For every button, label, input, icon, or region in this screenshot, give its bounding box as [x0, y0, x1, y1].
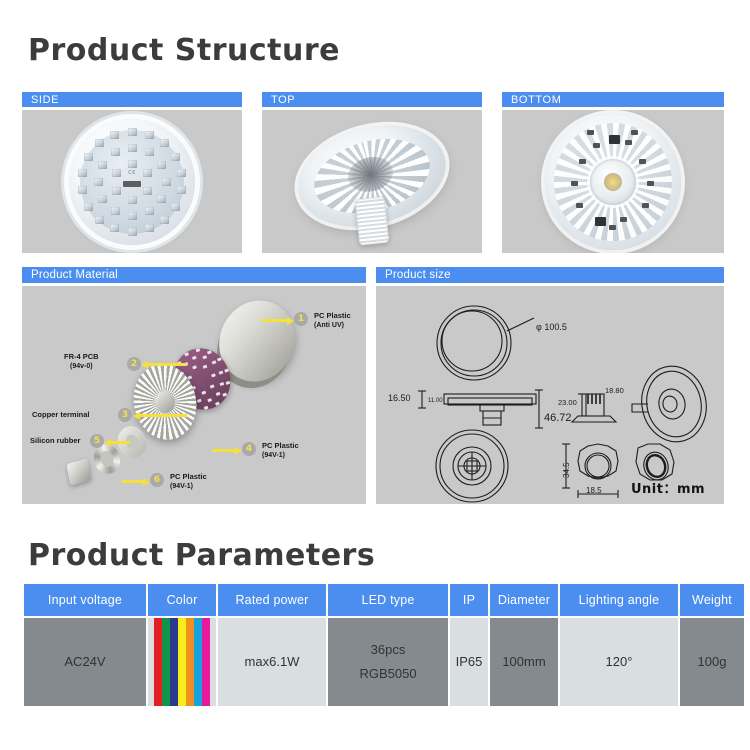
cell-diameter: 100mm	[490, 618, 558, 706]
led-chip	[112, 187, 121, 195]
led-chip	[98, 195, 107, 203]
led-chip	[160, 216, 169, 224]
panel-caption-product-size: Product size	[376, 267, 724, 283]
callout-label-5: Silicon rubber	[30, 436, 80, 446]
led-chip	[145, 148, 154, 156]
pcb-led-pad	[218, 370, 223, 374]
pcb-component	[625, 140, 632, 145]
panel-caption-bottom: BOTTOM	[502, 92, 724, 107]
led-chip	[95, 216, 104, 224]
led-chip	[98, 161, 107, 169]
dim-height-left-small: 11.00	[428, 398, 443, 404]
pcb-led-pad	[223, 393, 228, 397]
col-header-rated-power: Rated power	[218, 584, 326, 616]
pcb-led-pad	[192, 356, 197, 360]
col-header-color: Color	[148, 584, 216, 616]
pcb-component	[579, 159, 586, 164]
pcb-component	[620, 217, 627, 222]
photo-panel-bottom	[502, 110, 724, 253]
lamp-hub-icon	[590, 159, 636, 205]
callout-label-2: FR-4 PCB (94v-0)	[64, 352, 99, 372]
dim-height-left: 16.50	[388, 393, 411, 403]
pcb-led-pad	[184, 352, 189, 356]
page-title-product-parameters: Product Parameters	[28, 538, 375, 573]
pcb-led-pad	[226, 381, 231, 385]
dim-stem-height: 23.00	[558, 398, 577, 407]
led-chip	[111, 207, 120, 215]
panel-caption-top: TOP	[262, 92, 482, 107]
led-chip	[171, 153, 180, 161]
pcb-led-pad	[207, 398, 212, 402]
color-swatch-strip	[154, 618, 210, 706]
pcb-led-pad	[216, 392, 221, 396]
led-chip	[78, 186, 87, 194]
led-chip	[145, 207, 154, 215]
pcb-led-pad	[202, 390, 207, 394]
led-chip	[84, 153, 93, 161]
callout-label-6: PC Plastic (94V-1)	[170, 472, 207, 492]
pcb-component	[609, 135, 620, 144]
led-chip	[143, 169, 152, 177]
dim-overall-width: 46.72	[544, 412, 572, 424]
lamp-angled-photo	[297, 128, 447, 224]
cell-ip: IP65	[450, 618, 488, 706]
pcb-component	[593, 143, 600, 148]
callout-number-6: 6	[150, 473, 164, 487]
pcb-component	[609, 225, 616, 230]
led-chip	[145, 224, 154, 232]
led-chip	[128, 212, 137, 220]
color-swatch-2	[162, 618, 170, 706]
pcb-led-pad	[207, 350, 212, 354]
color-swatch-4	[178, 618, 186, 706]
cell-color	[148, 618, 216, 706]
cell-rated-power: max6.1W	[218, 618, 326, 706]
pcb-led-pad	[204, 406, 209, 410]
panel-caption-product-material: Product Material	[22, 267, 366, 283]
pcb-component	[571, 181, 578, 186]
callout-arrow-5	[110, 441, 130, 444]
led-chip	[177, 186, 186, 194]
page-title-product-structure: Product Structure	[28, 33, 340, 68]
callout-arrow-6	[122, 480, 144, 483]
pcb-component	[631, 130, 638, 135]
led-chip	[162, 178, 171, 186]
technical-drawing-svg	[376, 286, 724, 504]
led-chip	[78, 169, 87, 177]
callout-number-4: 4	[242, 442, 256, 456]
pcb-component	[639, 159, 646, 164]
led-chip	[128, 160, 137, 168]
part-base-connector	[66, 458, 91, 486]
led-chip	[94, 178, 103, 186]
led-chip	[110, 131, 119, 139]
col-header-diameter: Diameter	[490, 584, 558, 616]
col-header-lighting-angle: Lighting angle	[560, 584, 678, 616]
panel-caption-side: SIDE	[22, 92, 242, 107]
cell-lighting-angle: 120°	[560, 618, 678, 706]
callout-arrow-4	[212, 449, 236, 452]
lamp-stem-shape	[355, 196, 390, 245]
col-header-weight: Weight	[680, 584, 744, 616]
product-parameters-table: Input voltage Color Rated power LED type…	[22, 582, 746, 708]
led-chip	[160, 139, 169, 147]
callout-label-3: Copper terminal	[32, 410, 90, 420]
pcb-component	[576, 203, 583, 208]
dim-diameter: φ 100.5	[536, 322, 567, 332]
callout-number-5: 5	[90, 434, 104, 448]
pcb-component	[647, 181, 654, 186]
led-chip	[145, 131, 154, 139]
dim-nut-width: 18.5	[586, 486, 602, 495]
led-chip	[95, 139, 104, 147]
chip-label-icon	[123, 181, 141, 187]
led-chip	[143, 187, 152, 195]
unit-label: Unit：mm	[631, 478, 705, 497]
cell-weight: 100g	[680, 618, 744, 706]
pcb-led-pad	[224, 368, 229, 372]
led-chip	[84, 203, 93, 211]
color-swatch-7	[202, 618, 210, 706]
pcb-led-pad	[220, 381, 225, 385]
pcb-component	[595, 217, 606, 226]
pcb-led-pad	[197, 399, 202, 403]
table-header-row: Input voltage Color Rated power LED type…	[24, 584, 744, 616]
pcb-led-pad	[202, 355, 207, 359]
led-chip	[111, 148, 120, 156]
ce-mark-icon: C€	[128, 170, 135, 176]
lamp-rear-photo	[545, 114, 681, 250]
callout-label-4: PC Plastic (94V-1)	[262, 441, 299, 461]
panel-product-material: 1 PC Plastic (Anti UV) 2 FR-4 PCB (94v-0…	[22, 286, 366, 504]
color-swatch-3	[170, 618, 178, 706]
dim-nut-height: 34.5	[562, 462, 571, 478]
photo-panel-top	[262, 110, 482, 253]
panel-product-size: φ 100.5 16.50 11.00 46.72 23.00 18.80 34…	[376, 286, 724, 504]
led-chip	[157, 195, 166, 203]
pcb-led-pad	[211, 373, 216, 377]
callout-number-1: 1	[294, 312, 308, 326]
callout-arrow-1	[262, 319, 288, 322]
led-chip	[171, 203, 180, 211]
cell-led-type: 36pcs RGB5050	[328, 618, 448, 706]
callout-number-3: 3	[118, 408, 132, 422]
pcb-led-pad	[215, 402, 220, 406]
col-header-input-voltage: Input voltage	[24, 584, 146, 616]
color-swatch-5	[186, 618, 194, 706]
cell-input-voltage: AC24V	[24, 618, 146, 706]
led-chip	[157, 161, 166, 169]
color-swatch-1	[154, 618, 162, 706]
callout-arrow-2	[147, 363, 187, 366]
led-type-count: 36pcs	[328, 638, 448, 662]
pcb-led-pad	[210, 384, 215, 388]
table-row: AC24V max6.1W 36pcs RGB5050 IP65 100mm 1…	[24, 618, 744, 706]
dim-stem-width: 18.80	[605, 386, 624, 395]
led-chip	[128, 228, 137, 236]
callout-number-2: 2	[127, 357, 141, 371]
color-swatch-6	[194, 618, 202, 706]
led-chip	[110, 224, 119, 232]
pcb-led-pad	[193, 366, 198, 370]
pcb-led-pad	[195, 348, 200, 352]
lamp-front-photo: C€	[69, 119, 195, 245]
led-chip	[177, 169, 186, 177]
photo-panel-side: C€	[22, 110, 242, 253]
pcb-component	[642, 203, 649, 208]
callout-label-1: PC Plastic (Anti UV)	[314, 311, 351, 331]
callout-arrow-3	[139, 414, 187, 417]
pcb-led-pad	[203, 364, 208, 368]
pcb-component	[587, 130, 594, 135]
product-spec-sheet: Product Structure SIDE C€ TOP BOTTOM Pro…	[0, 0, 750, 750]
led-chip	[128, 144, 137, 152]
led-type-model: RGB5050	[328, 662, 448, 686]
led-chip	[128, 128, 137, 136]
pcb-led-pad	[212, 360, 217, 364]
pcb-led-pad	[217, 357, 222, 361]
col-header-led-type: LED type	[328, 584, 448, 616]
col-header-ip: IP	[450, 584, 488, 616]
led-chip	[128, 196, 137, 204]
led-chip	[112, 169, 121, 177]
